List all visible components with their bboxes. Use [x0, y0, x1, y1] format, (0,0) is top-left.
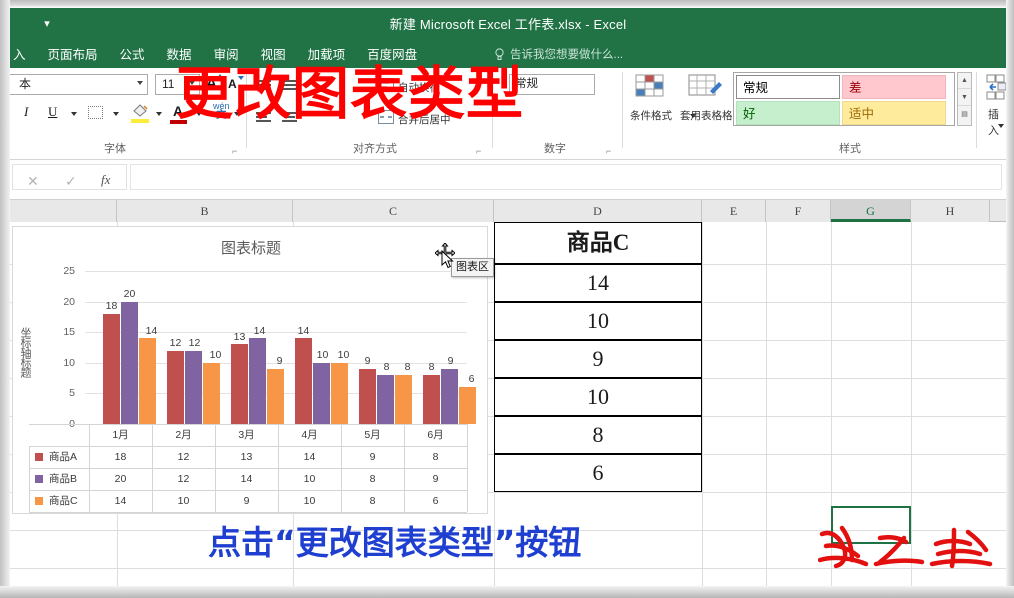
scroll-more-icon[interactable]: ▤ — [958, 107, 971, 123]
annotation-change-chart-type: 更改图表类型 — [176, 66, 524, 123]
bar-商品B-4月[interactable] — [313, 363, 330, 424]
bar-商品C-1月[interactable] — [139, 338, 156, 424]
dt-商品B-5月: 8 — [341, 469, 404, 489]
column-header-g[interactable]: G — [831, 200, 911, 222]
window-frame-left — [0, 0, 10, 598]
tell-me-input[interactable]: 告诉我您想要做什么... — [510, 42, 623, 68]
dt-商品B-6月: 9 — [404, 469, 467, 489]
dt-商品A-3月: 13 — [215, 447, 278, 467]
dt-商品A-1月: 18 — [89, 447, 152, 467]
group-separator — [976, 72, 977, 148]
bar-商品C-6月[interactable] — [459, 387, 476, 424]
cell-d-1[interactable]: 14 — [494, 264, 702, 302]
category-label-4月: 4月 — [278, 425, 341, 445]
chevron-down-icon[interactable] — [137, 81, 143, 85]
borders-chevron-down-icon[interactable] — [113, 112, 119, 116]
dt-商品A-6月: 8 — [404, 447, 467, 467]
conditional-formatting-label[interactable]: 条件格式 — [630, 108, 672, 123]
conditional-formatting-icon[interactable] — [635, 74, 665, 100]
chart-title[interactable]: 图表标题 — [13, 237, 489, 258]
group-label-number: 数字 — [515, 140, 595, 156]
cell-d-6[interactable]: 6 — [494, 454, 702, 492]
data-table-line — [29, 512, 467, 513]
gridline — [85, 271, 467, 272]
cell-styles-scrollbar[interactable]: ▲ ▼ ▤ — [957, 72, 972, 126]
grid-line — [766, 222, 767, 586]
gridline — [85, 302, 467, 303]
data-table-line — [467, 424, 468, 512]
column-header-a-partial[interactable] — [10, 200, 117, 222]
fill-color-swatch[interactable] — [131, 119, 149, 123]
bar-商品A-1月[interactable] — [103, 314, 120, 424]
cell-style-neutral[interactable]: 适中 — [842, 101, 946, 125]
cell-d-5[interactable]: 8 — [494, 416, 702, 454]
font-dialog-launcher[interactable]: ⌐ — [232, 146, 242, 156]
scroll-up-icon[interactable]: ▲ — [958, 73, 971, 89]
chart-object[interactable]: 图表标题 坐标轴标题 25 20 15 10 5 0 18 20 14 — [12, 226, 488, 514]
data-label-商品A-4月: 14 — [289, 325, 318, 337]
fill-color-icon[interactable] — [131, 102, 149, 118]
bar-商品C-2月[interactable] — [203, 363, 220, 424]
alignment-dialog-launcher[interactable]: ⌐ — [476, 146, 486, 156]
formula-input[interactable] — [130, 164, 1002, 190]
category-label-2月: 2月 — [152, 425, 215, 445]
data-label-商品C-6月: 6 — [457, 373, 486, 385]
y-tick-10: 10 — [49, 357, 75, 369]
bar-商品C-3月[interactable] — [267, 369, 284, 424]
legend-label-商品C: 商品C — [33, 491, 89, 511]
bar-商品B-6月[interactable] — [441, 369, 458, 424]
bar-商品A-3月[interactable] — [231, 344, 248, 424]
signature-watermark — [818, 516, 1008, 580]
column-header-row: B C D E F G H — [10, 200, 1006, 222]
category-label-5月: 5月 — [341, 425, 404, 445]
bar-商品C-5月[interactable] — [395, 375, 412, 424]
dt-商品C-6月: 6 — [404, 491, 467, 511]
bar-商品B-2月[interactable] — [185, 351, 202, 424]
y-tick-20: 20 — [49, 296, 75, 308]
dt-商品C-2月: 10 — [152, 491, 215, 511]
font-size-value: 11 — [162, 77, 174, 91]
data-label-商品B-3月: 14 — [245, 325, 274, 337]
number-dialog-launcher[interactable]: ⌐ — [606, 146, 616, 156]
data-table-line — [29, 446, 30, 512]
legend-label-商品B: 商品B — [33, 469, 89, 489]
dt-商品A-2月: 12 — [152, 447, 215, 467]
fill-color-chevron-down-icon[interactable] — [156, 112, 162, 116]
insert-cells-label[interactable]: 插入 — [988, 106, 1006, 138]
underline-button[interactable]: U — [48, 104, 57, 120]
italic-button[interactable]: I — [24, 104, 28, 120]
bar-商品B-3月[interactable] — [249, 338, 266, 424]
excel-window: ▾ 新建 Microsoft Excel 工作表.xlsx - Excel 入 … — [0, 0, 1014, 598]
formula-bar-buttons: ✕ ✓ fx — [12, 164, 127, 190]
category-label-6月: 6月 — [404, 425, 467, 445]
borders-icon[interactable] — [88, 106, 103, 119]
column-header-d[interactable]: D — [494, 200, 702, 222]
cancel-icon[interactable]: ✕ — [27, 173, 39, 190]
y-tick-15: 15 — [49, 326, 75, 338]
cell-d-2[interactable]: 10 — [494, 302, 702, 340]
data-label-商品C-2月: 10 — [201, 349, 230, 361]
dt-商品C-4月: 10 — [278, 491, 341, 511]
group-label-font: 字体 — [75, 140, 155, 156]
dt-商品C-5月: 8 — [341, 491, 404, 511]
group-label-alignment: 对齐方式 — [320, 140, 430, 156]
dt-商品A-4月: 14 — [278, 447, 341, 467]
group-separator — [622, 72, 623, 148]
column-header-c[interactable]: C — [293, 200, 494, 222]
dt-商品B-1月: 20 — [89, 469, 152, 489]
bar-商品C-4月[interactable] — [331, 363, 348, 424]
cell-styles-gallery: 常规 差 好 适中 — [733, 72, 955, 126]
bar-商品B-5月[interactable] — [377, 375, 394, 424]
font-name-combo[interactable]: 本 — [0, 74, 148, 95]
cell-style-normal[interactable]: 常规 — [736, 75, 840, 99]
bar-商品A-5月[interactable] — [359, 369, 376, 424]
y-tick-25: 25 — [49, 265, 75, 277]
dt-商品A-5月: 9 — [341, 447, 404, 467]
dt-商品C-1月: 14 — [89, 491, 152, 511]
tab-formulas[interactable]: 公式 — [109, 42, 156, 68]
data-label-商品B-2月: 12 — [180, 337, 209, 349]
scroll-down-icon[interactable]: ▼ — [958, 90, 971, 106]
bar-商品A-6月[interactable] — [423, 375, 440, 424]
grid-line — [702, 222, 703, 586]
lightbulb-icon — [495, 48, 504, 61]
formula-bar: ✕ ✓ fx — [10, 160, 1006, 200]
confirm-icon[interactable]: ✓ — [65, 173, 77, 190]
cell-d-header[interactable]: 商品C — [494, 222, 702, 264]
column-header-f[interactable]: F — [766, 200, 831, 222]
window-frame-top — [0, 0, 1014, 8]
window-title: 新建 Microsoft Excel 工作表.xlsx - Excel — [10, 8, 1006, 42]
title-bar: ▾ 新建 Microsoft Excel 工作表.xlsx - Excel — [10, 8, 1006, 42]
bar-商品A-2月[interactable] — [167, 351, 184, 424]
bar-商品B-1月[interactable] — [121, 302, 138, 424]
data-label-商品B-1月: 20 — [115, 288, 144, 300]
legend-label-商品A: 商品A — [33, 447, 89, 467]
cell-d-4[interactable]: 10 — [494, 378, 702, 416]
data-label-商品C-3月: 9 — [265, 355, 294, 367]
dt-商品B-4月: 10 — [278, 469, 341, 489]
y-tick-5: 5 — [49, 387, 75, 399]
window-frame-bottom — [0, 586, 1014, 598]
chart-plot-area[interactable]: 25 20 15 10 5 0 18 20 14 12 12 10 13 — [85, 271, 467, 424]
cell-d-3[interactable]: 9 — [494, 340, 702, 378]
column-header-b[interactable]: B — [117, 200, 293, 222]
tab-page-layout[interactable]: 页面布局 — [37, 42, 109, 68]
font-name-value: 本 — [19, 77, 31, 91]
format-as-table-icon[interactable] — [688, 74, 722, 100]
annotation-instruction-caption: 点击“更改图表类型”按钮 — [208, 526, 581, 559]
column-header-h[interactable]: H — [911, 200, 990, 222]
mouse-pointer-icon — [441, 250, 455, 270]
data-label-商品A-1月: 18 — [97, 300, 126, 312]
chart-data-table: 1月 2月 3月 4月 5月 6月 商品A 18 12 13 14 9 8 商品… — [29, 424, 467, 512]
category-label-3月: 3月 — [215, 425, 278, 445]
insert-function-icon[interactable]: fx — [101, 172, 110, 188]
chart-area-tooltip: 图表区 — [451, 258, 494, 277]
underline-chevron-down-icon[interactable] — [71, 112, 77, 116]
insert-cells-chevron-down-icon[interactable] — [998, 124, 1004, 128]
chart-y-axis-title[interactable]: 坐标轴标题 — [17, 327, 33, 377]
dt-商品B-3月: 14 — [215, 469, 278, 489]
dt-商品C-3月: 9 — [215, 491, 278, 511]
cell-style-good[interactable]: 好 — [736, 101, 840, 125]
data-label-商品B-6月: 9 — [436, 355, 465, 367]
dt-商品B-2月: 12 — [152, 469, 215, 489]
group-label-styles: 样式 — [750, 140, 950, 156]
data-label-商品C-1月: 14 — [137, 325, 166, 337]
window-frame-right — [1006, 0, 1014, 598]
category-label-1月: 1月 — [89, 425, 152, 445]
column-header-e[interactable]: E — [702, 200, 766, 222]
cell-style-bad[interactable]: 差 — [842, 75, 946, 99]
